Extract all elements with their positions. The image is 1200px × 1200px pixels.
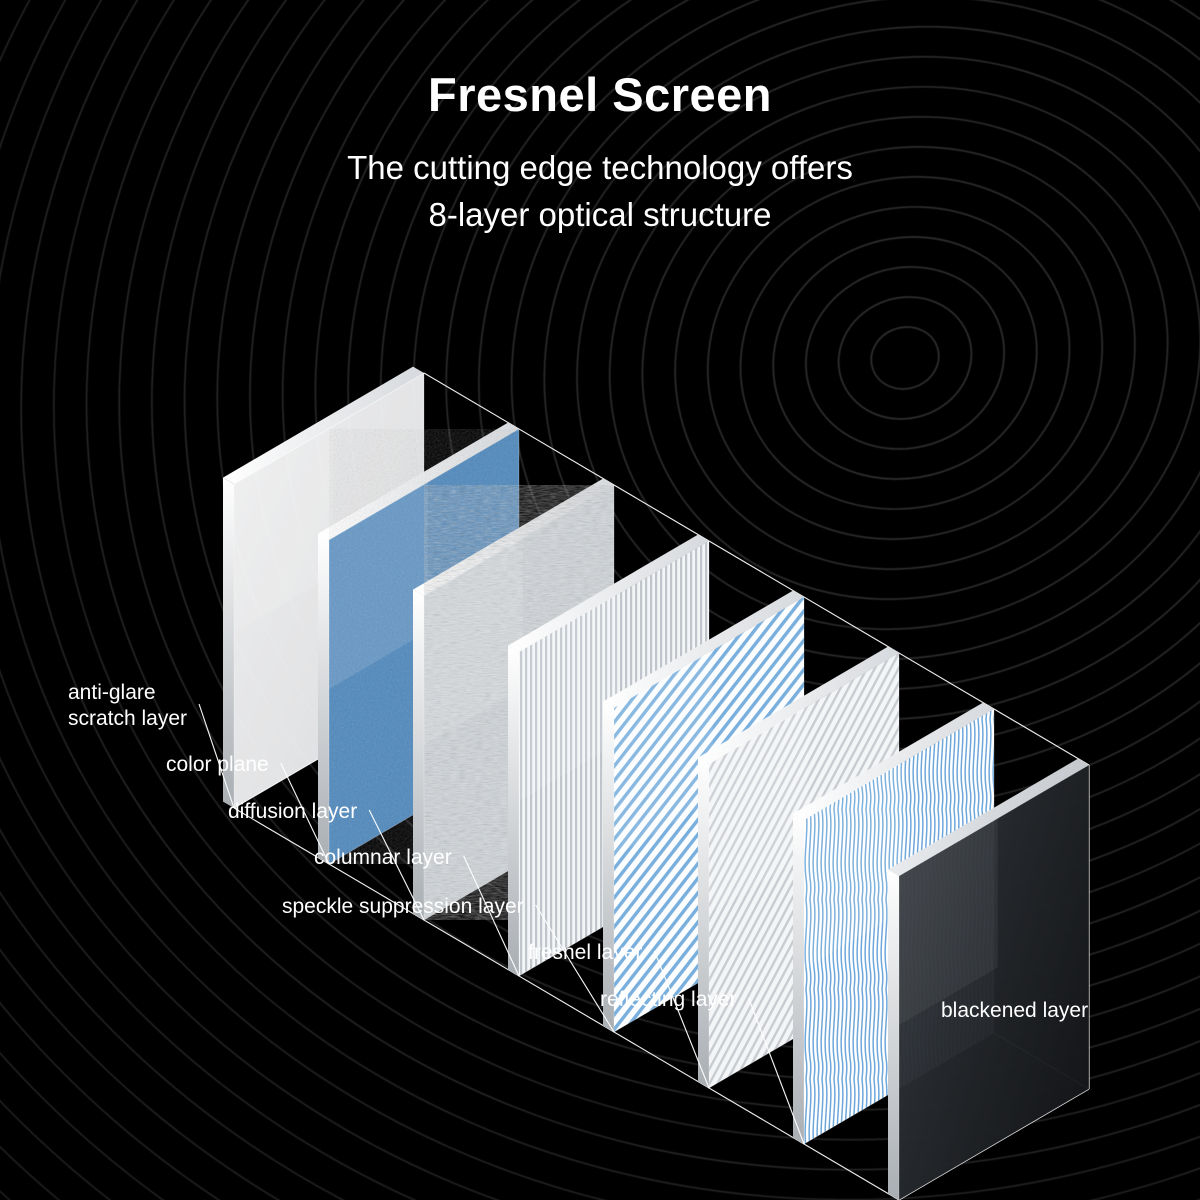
label-speckle-suppression-layer: speckle suppression layer	[282, 894, 524, 920]
layer-label-line: fresnel layer	[528, 940, 642, 966]
label-columnar-layer: columnar layer	[314, 845, 452, 871]
layer-label-line: scratch layer	[68, 706, 187, 732]
label-diffusion-layer: diffusion layer	[228, 799, 357, 825]
fresnel-screen-infographic: Fresnel Screen The cutting edge technolo…	[0, 0, 1200, 1200]
layer-label-line: anti-glare	[68, 680, 187, 706]
layer-label-line: color plane	[166, 752, 269, 778]
layer-label-line: diffusion layer	[228, 799, 357, 825]
layer-label-line: reflecting layer	[600, 987, 737, 1013]
label-anti-glare-scratch-layer: anti-glarescratch layer	[68, 680, 187, 731]
label-reflecting-layer: reflecting layer	[600, 987, 737, 1013]
label-fresnel-layer: fresnel layer	[528, 940, 642, 966]
layer-label-line: blackened layer	[941, 998, 1088, 1024]
layer-label-line: columnar layer	[314, 845, 452, 871]
panel-group	[223, 367, 1089, 1200]
label-blackened-layer: blackened layer	[941, 998, 1088, 1024]
label-color-plane: color plane	[166, 752, 269, 778]
layer-label-line: speckle suppression layer	[282, 894, 524, 920]
